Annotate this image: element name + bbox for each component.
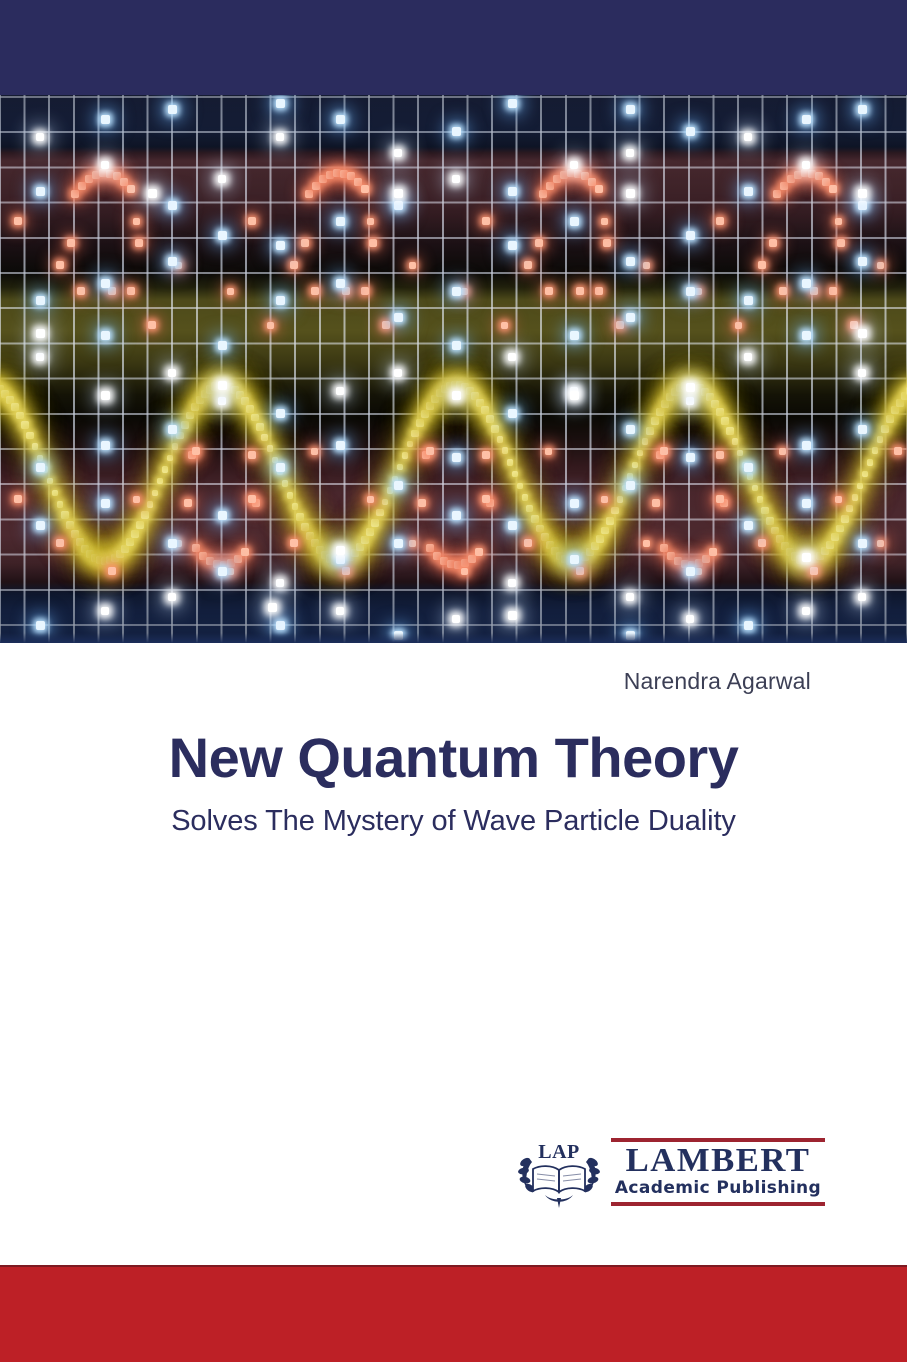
particle-red	[290, 539, 298, 547]
particle-red	[780, 182, 788, 190]
particle-blue	[336, 555, 345, 564]
particle-yellow	[481, 406, 489, 414]
author-name: Narendra Agarwal	[624, 668, 811, 695]
particle-red	[108, 567, 116, 575]
particle-red	[576, 567, 584, 575]
particle-red	[135, 239, 143, 247]
bottom-color-band	[0, 1265, 907, 1362]
particle-red	[248, 217, 256, 225]
particle-red	[184, 499, 192, 507]
particle-yellow	[267, 445, 274, 452]
particle-yellow	[526, 505, 533, 512]
particle-yellow	[632, 462, 638, 468]
particle-yellow	[296, 513, 303, 520]
particle-white	[802, 553, 811, 562]
particle-red	[192, 447, 200, 455]
particle-blue	[276, 296, 285, 305]
particle-yellow	[37, 455, 43, 461]
particle-red	[877, 262, 884, 269]
particle-red	[601, 218, 608, 225]
particle-red	[312, 182, 320, 190]
particle-red	[71, 190, 79, 198]
particle-red	[660, 544, 668, 552]
book-title: New Quantum Theory	[0, 725, 907, 790]
particle-red	[894, 447, 902, 455]
particle-blue	[508, 409, 517, 418]
particle-yellow	[512, 471, 518, 477]
particle-blue	[686, 287, 695, 296]
particle-blue	[394, 313, 403, 322]
particle-yellow	[831, 533, 839, 541]
particle-yellow	[771, 527, 779, 535]
particle-blue	[276, 241, 285, 250]
particle-yellow	[476, 399, 484, 407]
particle-blue	[508, 99, 517, 108]
particle-blue	[508, 521, 517, 530]
particle-blue	[686, 567, 695, 576]
particle-yellow	[282, 480, 288, 486]
particle-yellow	[57, 501, 64, 508]
particle-red	[716, 495, 724, 503]
particle-blue	[101, 499, 110, 508]
particle-red	[735, 322, 742, 329]
particle-yellow	[881, 425, 888, 432]
particle-blue	[802, 279, 811, 288]
particle-yellow	[157, 478, 163, 484]
particle-red	[305, 190, 313, 198]
particle-yellow	[61, 511, 68, 518]
particle-white	[36, 133, 44, 141]
particle-blue	[168, 105, 177, 114]
particle-yellow	[732, 438, 739, 445]
particle-white	[218, 381, 227, 390]
particle-yellow	[637, 450, 644, 457]
particle-red	[382, 321, 390, 329]
particle-yellow	[606, 517, 613, 524]
particle-red	[769, 239, 777, 247]
particle-blue	[508, 187, 517, 196]
particle-red	[248, 451, 256, 459]
particle-red	[850, 321, 858, 329]
particle-red	[709, 548, 717, 556]
particle-white	[802, 161, 810, 169]
particle-yellow	[397, 464, 403, 470]
particle-red	[234, 555, 242, 563]
particle-yellow	[176, 432, 183, 439]
particle-blue	[452, 341, 461, 350]
particle-yellow	[841, 515, 848, 522]
particle-white	[686, 383, 695, 392]
particle-yellow	[752, 485, 758, 491]
particle-yellow	[246, 405, 254, 413]
particle-yellow	[836, 525, 844, 533]
particle-red	[369, 239, 377, 247]
particle-white	[802, 607, 810, 615]
particle-white	[858, 329, 867, 338]
particle-white	[168, 369, 176, 377]
particle-red	[779, 448, 786, 455]
particle-red	[535, 239, 543, 247]
particle-blue	[802, 499, 811, 508]
particle-yellow	[507, 459, 513, 465]
particle-blue	[36, 187, 45, 196]
particle-white	[336, 546, 345, 555]
particle-yellow	[747, 473, 753, 479]
particle-blue	[394, 481, 403, 490]
particle-blue	[686, 127, 695, 136]
particle-blue	[686, 453, 695, 462]
particle-red	[367, 218, 374, 225]
particle-red	[127, 287, 135, 295]
particle-red	[588, 178, 596, 186]
particle-white	[744, 353, 752, 361]
particle-white	[101, 391, 110, 400]
particle-red	[643, 262, 650, 269]
particle-blue	[218, 341, 227, 350]
particle-blue	[336, 217, 345, 226]
particle-yellow	[162, 466, 168, 472]
particle-blue	[276, 99, 285, 108]
particle-blue	[276, 621, 285, 630]
particle-red	[501, 322, 508, 329]
particle-blue	[168, 425, 177, 434]
particle-red	[545, 287, 553, 295]
particle-white	[268, 603, 277, 612]
particle-red	[603, 239, 611, 247]
particle-yellow	[862, 471, 868, 477]
particle-blue	[36, 463, 45, 472]
particle-red	[354, 178, 362, 186]
particle-red	[758, 539, 766, 547]
particle-yellow	[497, 436, 504, 443]
particle-red	[601, 496, 608, 503]
particle-red	[56, 261, 64, 269]
particle-yellow	[172, 443, 179, 450]
particle-red	[342, 567, 350, 575]
particle-yellow	[256, 423, 263, 430]
particle-yellow	[71, 530, 79, 538]
particle-yellow	[886, 415, 894, 423]
particle-white	[101, 161, 109, 169]
particle-yellow	[47, 478, 53, 484]
particle-red	[311, 287, 319, 295]
particle-red	[418, 499, 426, 507]
particle-red	[695, 288, 702, 295]
particle-red	[643, 540, 650, 547]
particle-yellow	[186, 412, 194, 420]
particle-white	[218, 175, 226, 183]
particle-blue	[858, 105, 867, 114]
particle-blue	[394, 201, 403, 210]
particle-red	[702, 555, 710, 563]
particle-red	[468, 555, 476, 563]
particle-red	[877, 540, 884, 547]
particle-red	[290, 261, 298, 269]
particle-blue	[336, 279, 345, 288]
particle-yellow	[26, 432, 33, 439]
particle-blue	[802, 115, 811, 124]
particle-yellow	[846, 505, 853, 512]
particle-blue	[276, 409, 285, 418]
particle-yellow	[66, 521, 73, 528]
particle-blue	[452, 287, 461, 296]
particle-yellow	[646, 427, 653, 434]
publisher-tagline: Academic Publishing	[611, 1179, 825, 1198]
particle-red	[56, 539, 64, 547]
particle-blue	[744, 187, 753, 196]
particle-blue	[336, 441, 345, 450]
particle-yellow	[371, 519, 378, 526]
particle-yellow	[147, 501, 154, 508]
particle-yellow	[491, 425, 498, 432]
particle-yellow	[601, 527, 609, 535]
particle-blue	[570, 217, 579, 226]
artwork-bottom-fade	[0, 633, 907, 643]
particle-yellow	[387, 487, 394, 494]
particle-blue	[36, 521, 45, 530]
particle-yellow	[877, 436, 884, 443]
particle-yellow	[421, 410, 429, 418]
particle-yellow	[857, 483, 863, 489]
particle-yellow	[627, 473, 633, 479]
particle-white	[508, 579, 516, 587]
particle-red	[361, 185, 369, 193]
particle-yellow	[531, 515, 538, 522]
particle-yellow	[306, 532, 314, 540]
particle-yellow	[52, 490, 59, 497]
particle-blue	[626, 105, 635, 114]
particle-blue	[570, 331, 579, 340]
particle-red	[426, 447, 434, 455]
publisher-name: LAMBERT	[609, 1143, 827, 1179]
particle-yellow	[131, 530, 139, 538]
particle-red	[108, 287, 116, 295]
particle-blue	[36, 621, 45, 630]
particle-yellow	[181, 421, 188, 428]
particle-yellow	[32, 443, 39, 450]
particle-red	[539, 190, 547, 198]
particle-red	[409, 540, 416, 547]
particle-blue	[394, 539, 403, 548]
particle-yellow	[251, 414, 259, 422]
particle-red	[67, 239, 75, 247]
particle-yellow	[426, 402, 434, 410]
particle-red	[192, 544, 200, 552]
particle-yellow	[656, 408, 664, 416]
particle-white	[626, 149, 634, 157]
particle-white	[858, 369, 866, 377]
particle-red	[241, 548, 249, 556]
particle-yellow	[661, 400, 669, 408]
top-color-band	[0, 0, 907, 95]
particle-yellow	[642, 438, 649, 445]
particle-blue	[336, 115, 345, 124]
particle-white	[168, 593, 176, 601]
particle-white	[36, 329, 45, 338]
particle-yellow	[376, 509, 383, 516]
particle-white	[686, 397, 694, 405]
particle-yellow	[502, 447, 509, 454]
particle-blue	[101, 331, 110, 340]
particle-white	[36, 353, 44, 361]
particle-red	[77, 287, 85, 295]
particle-blue	[570, 499, 579, 508]
particle-white	[858, 189, 867, 198]
particle-yellow	[382, 499, 389, 506]
particle-white	[570, 161, 578, 169]
particle-blue	[218, 231, 227, 240]
particle-red	[311, 448, 318, 455]
particle-blue	[858, 539, 867, 548]
particle-blue	[101, 279, 110, 288]
particle-white	[686, 615, 694, 623]
particle-white	[626, 593, 634, 601]
particle-red	[409, 262, 416, 269]
particle-red	[524, 261, 532, 269]
particle-yellow	[11, 403, 19, 411]
particle-blue	[101, 115, 110, 124]
particle-blue	[744, 521, 753, 530]
particle-red	[227, 288, 234, 295]
particle-white	[452, 615, 460, 623]
particle-blue	[508, 241, 517, 250]
particle-red	[482, 451, 490, 459]
particle-yellow	[536, 525, 544, 533]
particle-yellow	[757, 496, 764, 503]
particle-yellow	[611, 507, 618, 514]
particle-blue	[452, 127, 461, 136]
particle-yellow	[141, 511, 148, 518]
particle-blue	[744, 621, 753, 630]
particle-red	[461, 568, 468, 575]
particle-blue	[452, 453, 461, 462]
particle-white	[148, 189, 157, 198]
particle-red	[822, 178, 830, 186]
particle-blue	[686, 231, 695, 240]
particle-red	[482, 495, 490, 503]
particle-white	[626, 189, 635, 198]
particle-blue	[452, 511, 461, 520]
particle-yellow	[721, 417, 728, 424]
particle-blue	[626, 481, 635, 490]
particle-white	[508, 353, 516, 361]
publisher-wordmark: LAMBERT Academic Publishing	[611, 1136, 825, 1208]
particle-red	[361, 287, 369, 295]
particle-red	[14, 217, 22, 225]
particle-blue	[36, 296, 45, 305]
particle-yellow	[522, 494, 529, 501]
particle-white	[394, 189, 403, 198]
particle-blue	[218, 511, 227, 520]
particle-yellow	[191, 403, 199, 411]
particle-red	[758, 261, 766, 269]
particle-blue	[744, 296, 753, 305]
particle-red	[835, 218, 842, 225]
particle-red	[267, 322, 274, 329]
particle-white	[101, 607, 109, 615]
particle-blue	[802, 331, 811, 340]
particle-red	[475, 548, 483, 556]
particle-yellow	[891, 406, 899, 414]
particle-red	[779, 287, 787, 295]
particle-yellow	[486, 415, 494, 423]
particle-white	[452, 175, 460, 183]
particle-blue	[168, 257, 177, 266]
particle-blue	[626, 257, 635, 266]
particle-yellow	[411, 430, 418, 437]
particle-red	[716, 217, 724, 225]
particle-blue	[626, 313, 635, 322]
particle-white	[276, 579, 284, 587]
particle-red	[133, 496, 140, 503]
particle-red	[595, 287, 603, 295]
particle-red	[127, 185, 135, 193]
particle-yellow	[852, 494, 859, 501]
particle-yellow	[167, 455, 173, 461]
particle-red	[829, 185, 837, 193]
particle-red	[716, 451, 724, 459]
particle-red	[829, 287, 837, 295]
particle-yellow	[361, 536, 369, 544]
particle-red	[695, 568, 702, 575]
particle-yellow	[711, 400, 719, 408]
particle-yellow	[292, 503, 299, 510]
particle-red	[835, 496, 842, 503]
particle-white	[336, 607, 344, 615]
particle-red	[660, 447, 668, 455]
particle-white	[570, 391, 579, 400]
particle-yellow	[826, 541, 834, 549]
particle-yellow	[261, 434, 268, 441]
particle-red	[524, 539, 532, 547]
cover-artwork	[0, 95, 907, 643]
particle-white	[394, 369, 402, 377]
particle-yellow	[21, 421, 28, 428]
particle-red	[461, 288, 468, 295]
particle-blue	[218, 567, 227, 576]
particle-white	[336, 387, 344, 395]
particle-red	[545, 448, 552, 455]
particle-yellow	[726, 427, 733, 434]
particle-red	[616, 321, 624, 329]
book-subtitle: Solves The Mystery of Wave Particle Dual…	[0, 805, 907, 838]
particle-white	[452, 391, 461, 400]
particle-yellow	[407, 441, 414, 448]
particle-yellow	[152, 490, 159, 497]
particle-blue	[101, 441, 110, 450]
particle-white	[394, 149, 402, 157]
particle-red	[367, 496, 374, 503]
particle-yellow	[16, 412, 24, 420]
particle-red	[576, 287, 584, 295]
particle-yellow	[287, 492, 294, 499]
particle-red	[120, 178, 128, 186]
particle-blue	[858, 425, 867, 434]
particle-blue	[744, 463, 753, 472]
book-cover: Narendra Agarwal New Quantum Theory Solv…	[0, 0, 907, 1360]
particle-red	[148, 321, 156, 329]
particle-red	[546, 182, 554, 190]
particle-red	[248, 495, 256, 503]
particle-blue	[570, 555, 579, 564]
particle-blue	[802, 441, 811, 450]
particle-yellow	[617, 496, 624, 503]
particle-yellow	[766, 517, 773, 524]
particle-yellow	[416, 419, 423, 426]
particle-red	[78, 182, 86, 190]
particle-white	[508, 611, 517, 620]
particle-red	[482, 217, 490, 225]
